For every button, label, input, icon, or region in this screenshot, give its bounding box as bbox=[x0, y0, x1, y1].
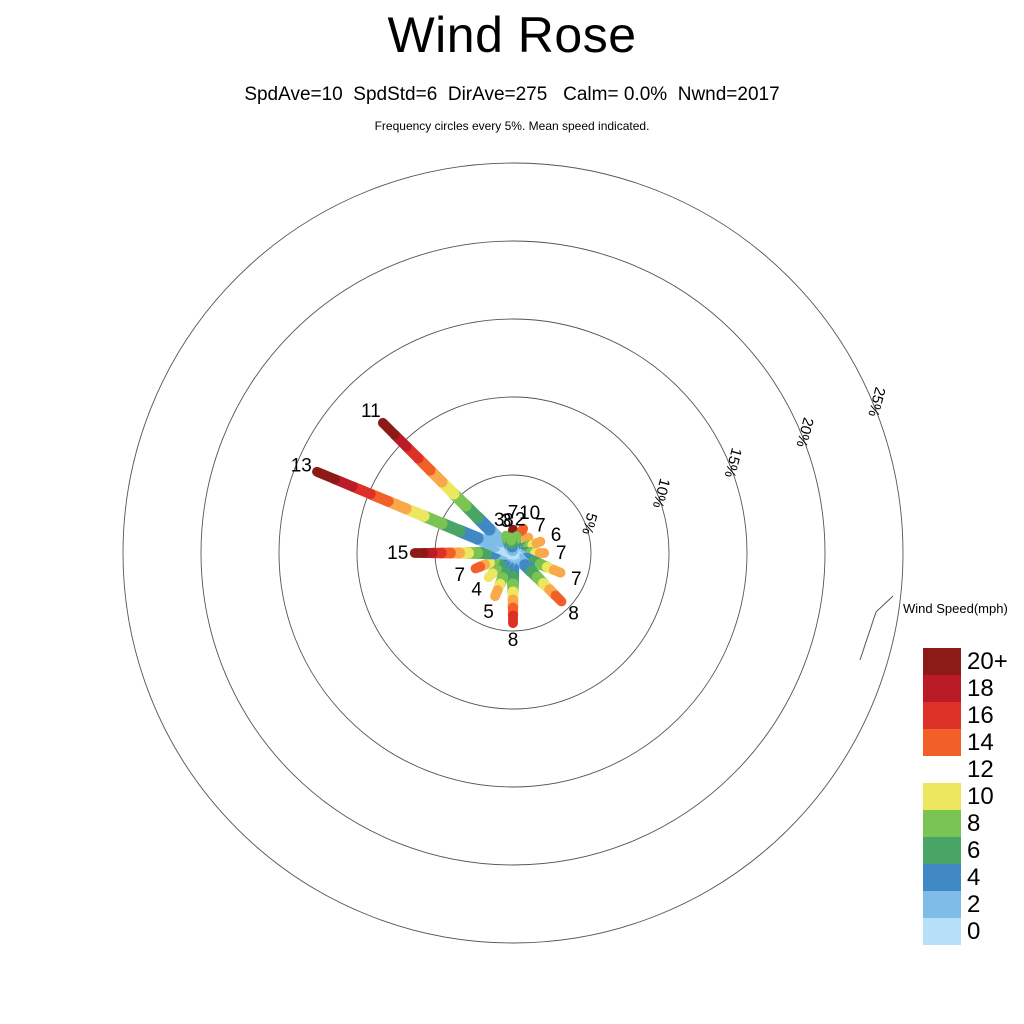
legend-label: 18 bbox=[967, 676, 1024, 702]
legend-label: 16 bbox=[967, 703, 1024, 729]
wind-rose-plot: 5%10%15%20%25% 7107677885471513113328 bbox=[0, 0, 1024, 1024]
legend-row: 6 bbox=[923, 837, 961, 864]
legend-row: 8 bbox=[923, 810, 961, 837]
legend-row: 0 bbox=[923, 918, 961, 945]
petal-mean-speed-label: 8 bbox=[508, 630, 519, 651]
petal-segment bbox=[383, 423, 395, 435]
legend-label: 12 bbox=[967, 757, 1024, 783]
petal-mean-speed-label: 13 bbox=[291, 455, 312, 476]
petal-mean-speed-label: 5 bbox=[483, 602, 494, 623]
legend-row: 2 bbox=[923, 891, 961, 918]
legend-color-swatch bbox=[923, 810, 961, 837]
legend-row: 4 bbox=[923, 864, 961, 891]
legend-color-swatch bbox=[923, 729, 961, 756]
petal-mean-speed-label: 7 bbox=[535, 516, 546, 537]
petal-segment bbox=[526, 538, 528, 540]
legend-row: 20+ bbox=[923, 648, 961, 675]
petal-mean-speed-label: 7 bbox=[455, 565, 466, 586]
ring-tick-label: 10% bbox=[649, 477, 673, 510]
petal-segment bbox=[554, 570, 561, 573]
ring-tick-label: 20% bbox=[792, 416, 816, 449]
legend-label: 20+ bbox=[967, 649, 1024, 675]
petal-mean-speed-label: 8 bbox=[503, 511, 514, 532]
legend-row: 10 bbox=[923, 783, 961, 810]
petal-mean-speed-label: 15 bbox=[387, 543, 408, 564]
legend-label: 14 bbox=[967, 730, 1024, 756]
petal-mean-speed-label: 8 bbox=[568, 604, 579, 625]
ring-tick-label: 15% bbox=[721, 446, 745, 479]
petal-mean-speed-label: 7 bbox=[571, 569, 582, 590]
legend-row: 18 bbox=[923, 675, 961, 702]
petal-segment bbox=[476, 567, 481, 569]
legend-label: 2 bbox=[967, 892, 1024, 918]
legend-color-swatch bbox=[923, 702, 961, 729]
petal-segment bbox=[536, 542, 540, 544]
legend-title: Wind Speed(mph) bbox=[903, 601, 1008, 616]
legend-color-swatch bbox=[923, 891, 961, 918]
legend-color-swatch bbox=[923, 648, 961, 675]
petal-segment bbox=[495, 590, 498, 596]
ring-tick-label: 25% bbox=[864, 385, 888, 418]
legend-row: 12 bbox=[923, 756, 961, 783]
legend-row: 16 bbox=[923, 702, 961, 729]
legend-color-swatch bbox=[923, 756, 961, 783]
petal-mean-speed-label: 4 bbox=[471, 579, 482, 600]
legend-color-swatch bbox=[923, 783, 961, 810]
legend-color-swatch bbox=[923, 837, 961, 864]
wind-rose-figure: Wind Rose SpdAve=10 SpdStd=6 DirAve=275 … bbox=[0, 0, 1024, 1024]
ring-tick-labels: 5%10%15%20%25% bbox=[578, 385, 888, 536]
petal-segment bbox=[489, 573, 493, 577]
petal-segment bbox=[317, 472, 335, 479]
legend-label: 10 bbox=[967, 784, 1024, 810]
legend-color-swatch bbox=[923, 864, 961, 891]
legend-label: 0 bbox=[967, 919, 1024, 945]
legend-label: 6 bbox=[967, 838, 1024, 864]
legend-leader-line bbox=[860, 596, 893, 660]
legend-swatches: 20+181614121086420 bbox=[923, 648, 961, 945]
petal-mean-speed-label: 2 bbox=[515, 510, 526, 531]
legend-color-swatch bbox=[923, 675, 961, 702]
legend-row: 14 bbox=[923, 729, 961, 756]
petal-mean-speed-label: 7 bbox=[556, 543, 567, 564]
legend-label: 4 bbox=[967, 865, 1024, 891]
petal-mean-speed-label: 11 bbox=[361, 401, 381, 422]
petal-segment bbox=[555, 595, 561, 601]
legend-label: 8 bbox=[967, 811, 1024, 837]
legend-color-swatch bbox=[923, 918, 961, 945]
